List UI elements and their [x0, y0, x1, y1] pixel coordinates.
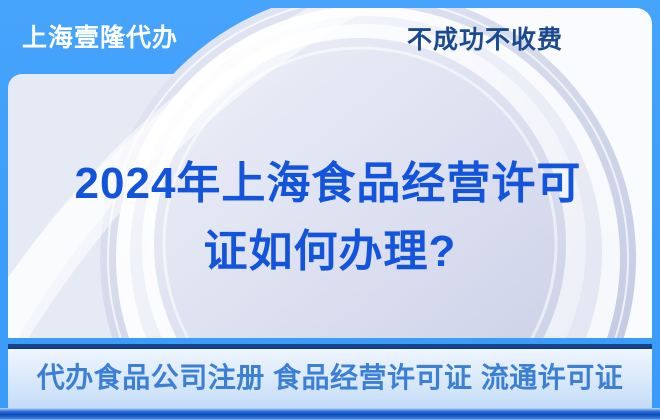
headline: 2024年上海食品经营许可 证如何办理?	[8, 150, 652, 286]
brand-strip: 上海壹隆代办	[0, 0, 300, 74]
keyword-list: 代办食品公司注册 食品经营许可证 流通许可证	[8, 356, 652, 396]
brand-name: 上海壹隆代办	[22, 18, 178, 54]
headline-line-2: 证如何办理?	[8, 218, 652, 286]
headline-line-1: 2024年上海食品经营许可	[4, 150, 652, 218]
tagline: 不成功不收费	[380, 20, 590, 56]
keyword-bar-top-rule	[8, 344, 652, 349]
bottom-edge-rule	[0, 408, 660, 420]
poster-banner: 上海壹隆代办 不成功不收费 2024年上海食品经营许可 证如何办理? 代办食品公…	[0, 0, 660, 420]
keyword-bar: 代办食品公司注册 食品经营许可证 流通许可证	[8, 344, 652, 408]
